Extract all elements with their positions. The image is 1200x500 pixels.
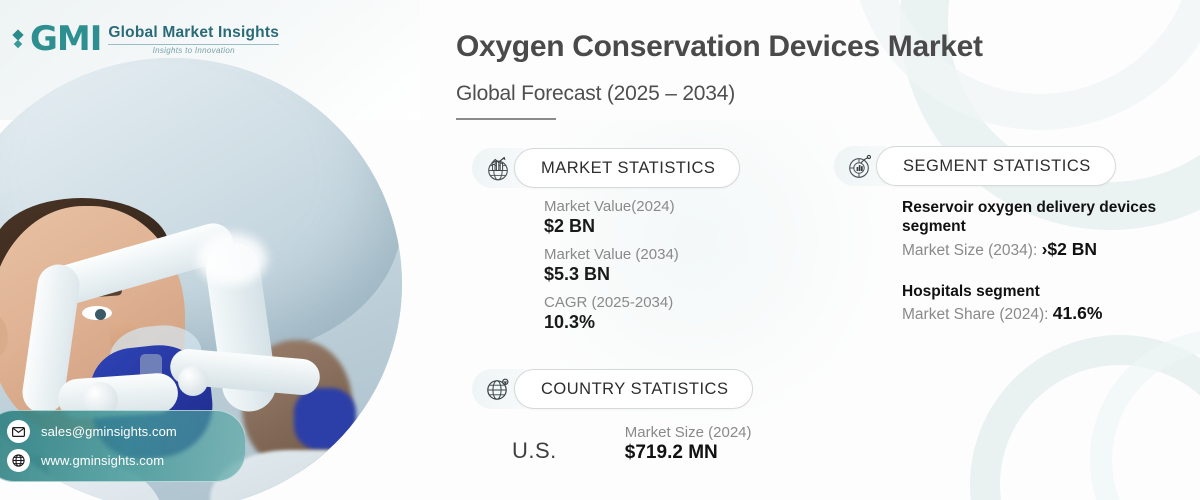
country-statistics-header: COUNTRY STATISTICS: [472, 369, 753, 409]
market-statistics-label: MARKET STATISTICS: [514, 148, 740, 188]
globe-icon: [7, 449, 30, 472]
page-title: Oxygen Conservation Devices Market: [456, 30, 1156, 64]
country-metric-label: Market Size (2024): [625, 424, 752, 441]
contact-panel: sales@gminsights.com www.gminsights.com: [0, 410, 246, 482]
logo-initials: GMI: [30, 22, 101, 56]
segment-statistics-list: Reservoir oxygen delivery devices segmen…: [902, 198, 1182, 324]
company-logo[interactable]: GMI Global Market Insights Insights to I…: [14, 22, 279, 56]
market-stat-label-0: Market Value(2024): [544, 198, 679, 215]
country-statistics-label: COUNTRY STATISTICS: [514, 369, 753, 409]
market-stat-value-0: $2 BN: [544, 216, 679, 237]
segment-item-metric-1: Market Share (2024): 41.6%: [902, 303, 1182, 324]
country-metric-value: $719.2 MN: [625, 442, 752, 464]
country-metric: Market Size (2024) $719.2 MN: [625, 424, 752, 464]
segment-item-metric-value-0: ›$2 BN: [1042, 239, 1097, 259]
segment-item-metric-label-1: Market Share (2024):: [902, 306, 1048, 323]
segment-statistics-label: SEGMENT STATISTICS: [876, 146, 1116, 186]
segment-item-title-1: Hospitals segment: [902, 282, 1182, 301]
market-stat-value-2: 10.3%: [544, 312, 679, 333]
page-subtitle: Global Forecast (2025 – 2034): [456, 82, 735, 106]
contact-email-row[interactable]: sales@gminsights.com: [7, 420, 231, 443]
content-area: Oxygen Conservation Devices Market Globa…: [452, 0, 1200, 500]
contact-website-row[interactable]: www.gminsights.com: [7, 449, 231, 472]
logo-tagline: Insights to Innovation: [153, 46, 235, 55]
segment-statistics-header: SEGMENT STATISTICS: [834, 146, 1116, 186]
envelope-icon: [7, 420, 30, 443]
contact-website: www.gminsights.com: [41, 453, 164, 468]
logo-diamond-icon: [14, 31, 22, 47]
country-statistics-body: U.S. Market Size (2024) $719.2 MN: [512, 424, 752, 464]
contact-email: sales@gminsights.com: [41, 424, 177, 439]
segment-item-metric-value-1: 41.6%: [1053, 303, 1103, 323]
market-statistics-list: Market Value(2024) $2 BN Market Value (2…: [544, 198, 679, 342]
market-statistics-header: MARKET STATISTICS: [472, 148, 740, 188]
segment-item-metric-label-0: Market Size (2034):: [902, 242, 1037, 259]
logo-company-name: Global Market Insights: [108, 24, 279, 42]
market-stat-label-2: CAGR (2025-2034): [544, 294, 679, 311]
infographic-canvas: GMI Global Market Insights Insights to I…: [0, 0, 1200, 500]
logo-divider: [108, 44, 279, 45]
title-underline: [456, 118, 556, 120]
country-name: U.S.: [512, 438, 557, 464]
segment-item-title-0: Reservoir oxygen delivery devices segmen…: [902, 198, 1182, 237]
segment-item-metric-0: Market Size (2034): ›$2 BN: [902, 239, 1182, 260]
market-stat-value-1: $5.3 BN: [544, 264, 679, 285]
market-stat-label-1: Market Value (2034): [544, 246, 679, 263]
